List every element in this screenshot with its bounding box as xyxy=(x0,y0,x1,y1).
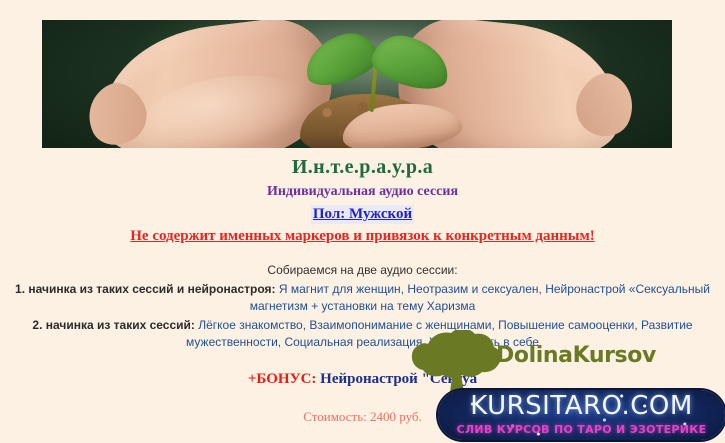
bonus-line: +БОНУС: Нейронастрой "Сексуа xyxy=(0,369,725,389)
session-2-items: Лёгкое знакомство, Взаимопонимание с жен… xyxy=(186,318,693,349)
gender-line: Пол: Мужской xyxy=(0,203,725,224)
page-title: И.н.т.е.р.а.у.р.а xyxy=(0,155,725,179)
bonus-label: +БОНУС: xyxy=(248,371,317,387)
sessions-intro: Собираемся на две аудио сессии: xyxy=(0,261,725,279)
session-1-items: Я магнит для женщин, Неотразим и сексуал… xyxy=(250,282,710,313)
page-subtitle: Индивидуальная аудио сессия xyxy=(0,181,725,203)
session-1-lead: 1. начинка из таких сессий и нейронастро… xyxy=(15,282,275,296)
session-item-1: 1. начинка из таких сессий и нейронастро… xyxy=(0,281,725,315)
session-item-2: 2. начинка из таких сессий: Лёгкое знако… xyxy=(0,317,725,351)
page-content: И.н.т.е.р.а.у.р.а Индивидуальная аудио с… xyxy=(0,155,725,443)
price-label: Стоимость: 2400 руб. xyxy=(0,408,725,426)
hero-image xyxy=(42,20,672,148)
session-2-lead: 2. начинка из таких сессий: xyxy=(32,318,194,332)
bonus-text: Нейронастрой "Сексуа xyxy=(320,371,477,387)
gender-label: Пол: Мужской xyxy=(311,205,414,224)
no-personal-markers-warning: Не содержит именных маркеров и привязок … xyxy=(0,225,725,247)
